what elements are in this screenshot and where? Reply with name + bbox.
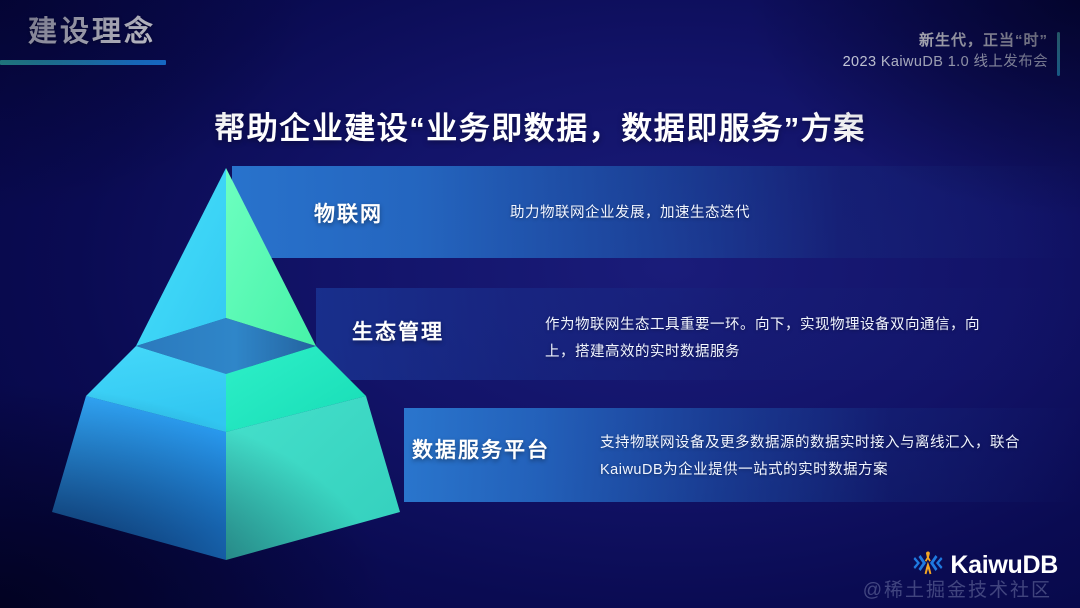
event-accent-bar <box>1057 32 1060 76</box>
pyramid-apex-left-face <box>136 168 226 346</box>
event-name: 2023 KaiwuDB 1.0 线上发布会 <box>843 52 1048 73</box>
tier-3-title: 数据服务平台 <box>412 434 550 464</box>
tier-3-description: 支持物联网设备及更多数据源的数据实时接入与离线汇入，联合KaiwuDB为企业提供… <box>600 430 1020 484</box>
page-title: 建设理念 <box>28 18 156 47</box>
tier-2-title: 生态管理 <box>352 316 444 346</box>
slide-root: 建设理念 新生代，正当“时” 2023 KaiwuDB 1.0 线上发布会 帮助… <box>0 0 1080 608</box>
tier-1-description: 助力物联网企业发展，加速生态迭代 <box>510 200 930 227</box>
tier-2-description: 作为物联网生态工具重要一环。向下，实现物理设备双向通信，向上，搭建高效的实时数据… <box>545 312 1007 366</box>
tier-1-title: 物联网 <box>314 198 383 228</box>
title-underline-rule <box>0 60 166 65</box>
main-heading: 帮助企业建设“业务即数据，数据即服务”方案 <box>0 103 1080 148</box>
event-tagline: 新生代，正当“时” <box>843 30 1048 52</box>
pyramid-apex-right-face <box>226 168 316 346</box>
event-info: 新生代，正当“时” 2023 KaiwuDB 1.0 线上发布会 <box>843 30 1048 73</box>
watermark: @稀土掘金技术社区 <box>863 575 1052 602</box>
